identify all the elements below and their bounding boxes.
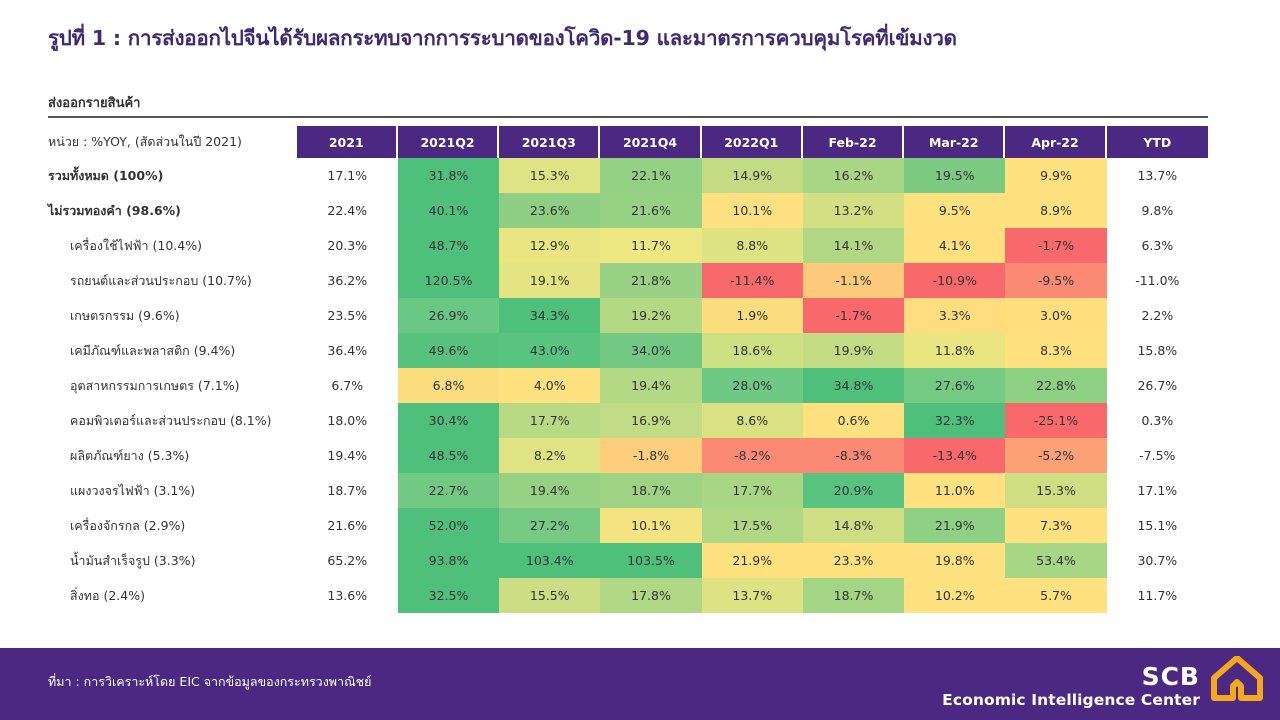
data-cell: 17.8% xyxy=(600,578,701,613)
data-cell: 103.4% xyxy=(499,543,600,578)
data-cell: 14.1% xyxy=(803,228,904,263)
data-cell: 26.9% xyxy=(398,298,499,333)
data-cell: 22.1% xyxy=(600,158,701,193)
data-cell: -1.7% xyxy=(803,298,904,333)
page-title: รูปที่ 1 : การส่งออกไปจีนได้รับผลกระทบจา… xyxy=(48,22,1238,55)
data-cell: 19.4% xyxy=(600,368,701,403)
column-header-2021q2: 2021Q2 xyxy=(398,126,499,158)
data-cell: 22.7% xyxy=(398,473,499,508)
data-cell: 22.8% xyxy=(1005,368,1106,403)
data-cell: 20.9% xyxy=(803,473,904,508)
data-cell: 48.7% xyxy=(398,228,499,263)
row-label: ไม่รวมทองคำ (98.6%) xyxy=(48,193,297,228)
data-cell: 13.7% xyxy=(702,578,803,613)
data-cell: 8.8% xyxy=(702,228,803,263)
data-cell: 9.5% xyxy=(904,193,1005,228)
table-row: แผงวงจรไฟฟ้า (3.1%)18.7%22.7%19.4%18.7%1… xyxy=(48,473,1208,508)
row-label: อุตสาหกรรมการเกษตร (7.1%) xyxy=(48,368,297,403)
table-row: เครื่องใช้ไฟฟ้า (10.4%)20.3%48.7%12.9%11… xyxy=(48,228,1208,263)
logo-text-block: SCB Economic Intelligence Center xyxy=(942,664,1200,715)
unit-header-label: หน่วย : %YOY, (สัดส่วนในปี 2021) xyxy=(48,126,297,158)
data-cell: 3.0% xyxy=(1005,298,1106,333)
data-cell: 11.7% xyxy=(600,228,701,263)
data-cell: -1.8% xyxy=(600,438,701,473)
data-cell: 8.3% xyxy=(1005,333,1106,368)
data-cell: 2.2% xyxy=(1107,298,1208,333)
data-cell: 19.5% xyxy=(904,158,1005,193)
data-cell: 21.6% xyxy=(600,193,701,228)
data-cell: 93.8% xyxy=(398,543,499,578)
source-note: ที่มา : การวิเคราะห์โดย EIC จากข้อมูลของ… xyxy=(48,672,371,692)
data-cell: 20.3% xyxy=(297,228,398,263)
column-header-apr-22: Apr-22 xyxy=(1005,126,1106,158)
data-cell: 4.1% xyxy=(904,228,1005,263)
table-row: ผลิตภัณฑ์ยาง (5.3%)19.4%48.5%8.2%-1.8%-8… xyxy=(48,438,1208,473)
data-cell: 27.6% xyxy=(904,368,1005,403)
table-row: อุตสาหกรรมการเกษตร (7.1%)6.7%6.8%4.0%19.… xyxy=(48,368,1208,403)
data-cell: 17.1% xyxy=(1107,473,1208,508)
data-cell: 10.1% xyxy=(600,508,701,543)
data-cell: -11.0% xyxy=(1107,263,1208,298)
data-cell: 8.2% xyxy=(499,438,600,473)
table-row: รถยนต์และส่วนประกอบ (10.7%)36.2%120.5%19… xyxy=(48,263,1208,298)
data-cell: 13.7% xyxy=(1107,158,1208,193)
export-heatmap-table: หน่วย : %YOY, (สัดส่วนในปี 2021) 2021202… xyxy=(48,126,1208,613)
data-cell: 34.0% xyxy=(600,333,701,368)
data-cell: 1.9% xyxy=(702,298,803,333)
data-cell: 32.3% xyxy=(904,403,1005,438)
data-cell: 10.2% xyxy=(904,578,1005,613)
data-cell: 18.6% xyxy=(702,333,803,368)
data-cell: 4.0% xyxy=(499,368,600,403)
data-cell: 8.9% xyxy=(1005,193,1106,228)
data-cell: 40.1% xyxy=(398,193,499,228)
data-cell: 6.8% xyxy=(398,368,499,403)
table-head: หน่วย : %YOY, (สัดส่วนในปี 2021) 2021202… xyxy=(48,126,1208,158)
data-cell: 10.1% xyxy=(702,193,803,228)
data-cell: 17.7% xyxy=(499,403,600,438)
data-cell: -8.2% xyxy=(702,438,803,473)
column-header-feb-22: Feb-22 xyxy=(803,126,904,158)
data-cell: 0.3% xyxy=(1107,403,1208,438)
scb-eic-logo: SCB Economic Intelligence Center xyxy=(942,656,1264,714)
row-label: เครื่องจักรกล (2.9%) xyxy=(48,508,297,543)
data-cell: 3.3% xyxy=(904,298,1005,333)
data-cell: 18.0% xyxy=(297,403,398,438)
data-cell: 6.7% xyxy=(297,368,398,403)
data-cell: 30.7% xyxy=(1107,543,1208,578)
table-row: รวมทั้งหมด (100%)17.1%31.8%15.3%22.1%14.… xyxy=(48,158,1208,193)
data-cell: -7.5% xyxy=(1107,438,1208,473)
row-label: สิ่งทอ (2.4%) xyxy=(48,578,297,613)
data-cell: 15.8% xyxy=(1107,333,1208,368)
data-cell: 6.3% xyxy=(1107,228,1208,263)
data-cell: 15.3% xyxy=(1005,473,1106,508)
data-cell: 17.7% xyxy=(702,473,803,508)
data-cell: 17.1% xyxy=(297,158,398,193)
data-cell: 52.0% xyxy=(398,508,499,543)
data-cell: 34.8% xyxy=(803,368,904,403)
data-cell: 13.2% xyxy=(803,193,904,228)
data-cell: -10.9% xyxy=(904,263,1005,298)
data-cell: 48.5% xyxy=(398,438,499,473)
data-cell: 19.4% xyxy=(499,473,600,508)
data-cell: 19.9% xyxy=(803,333,904,368)
row-label: ผลิตภัณฑ์ยาง (5.3%) xyxy=(48,438,297,473)
row-label: เคมีภัณฑ์และพลาสติก (9.4%) xyxy=(48,333,297,368)
data-cell: 0.6% xyxy=(803,403,904,438)
data-cell: 23.6% xyxy=(499,193,600,228)
data-cell: -13.4% xyxy=(904,438,1005,473)
data-cell: 19.4% xyxy=(297,438,398,473)
data-cell: 23.3% xyxy=(803,543,904,578)
data-cell: 11.7% xyxy=(1107,578,1208,613)
data-cell: 14.8% xyxy=(803,508,904,543)
data-cell: -11.4% xyxy=(702,263,803,298)
column-header-2022q1: 2022Q1 xyxy=(702,126,803,158)
data-cell: 49.6% xyxy=(398,333,499,368)
data-cell: 9.9% xyxy=(1005,158,1106,193)
data-cell: 21.8% xyxy=(600,263,701,298)
table-row: เคมีภัณฑ์และพลาสติก (9.4%)36.4%49.6%43.0… xyxy=(48,333,1208,368)
data-cell: 7.3% xyxy=(1005,508,1106,543)
table-body: รวมทั้งหมด (100%)17.1%31.8%15.3%22.1%14.… xyxy=(48,158,1208,613)
data-cell: -9.5% xyxy=(1005,263,1106,298)
row-label: แผงวงจรไฟฟ้า (3.1%) xyxy=(48,473,297,508)
data-cell: -1.7% xyxy=(1005,228,1106,263)
data-cell: 9.8% xyxy=(1107,193,1208,228)
row-label: เครื่องใช้ไฟฟ้า (10.4%) xyxy=(48,228,297,263)
row-label: คอมพิวเตอร์และส่วนประกอบ (8.1%) xyxy=(48,403,297,438)
data-cell: 18.7% xyxy=(297,473,398,508)
data-cell: 8.6% xyxy=(702,403,803,438)
scb-spade-logo-icon xyxy=(1210,656,1264,714)
data-cell: 11.8% xyxy=(904,333,1005,368)
column-header-2021: 2021 xyxy=(297,126,398,158)
data-cell: 16.2% xyxy=(803,158,904,193)
data-cell: 18.7% xyxy=(803,578,904,613)
data-cell: 5.7% xyxy=(1005,578,1106,613)
row-label: น้ำมันสำเร็จรูป (3.3%) xyxy=(48,543,297,578)
data-cell: 14.9% xyxy=(702,158,803,193)
data-cell: 28.0% xyxy=(702,368,803,403)
data-cell: 16.9% xyxy=(600,403,701,438)
data-cell: -1.1% xyxy=(803,263,904,298)
data-cell: 19.1% xyxy=(499,263,600,298)
section-heading: ส่งออกรายสินค้า xyxy=(48,92,141,113)
data-cell: 36.4% xyxy=(297,333,398,368)
data-cell: 31.8% xyxy=(398,158,499,193)
data-cell: 15.5% xyxy=(499,578,600,613)
footer-bar: ที่มา : การวิเคราะห์โดย EIC จากข้อมูลของ… xyxy=(0,648,1280,720)
data-cell: 22.4% xyxy=(297,193,398,228)
data-cell: 11.0% xyxy=(904,473,1005,508)
data-cell: 13.6% xyxy=(297,578,398,613)
data-cell: 18.7% xyxy=(600,473,701,508)
data-cell: 32.5% xyxy=(398,578,499,613)
data-cell: 65.2% xyxy=(297,543,398,578)
logo-eic-text: Economic Intelligence Center xyxy=(942,693,1200,709)
table-row: คอมพิวเตอร์และส่วนประกอบ (8.1%)18.0%30.4… xyxy=(48,403,1208,438)
data-cell: 53.4% xyxy=(1005,543,1106,578)
table-row: ไม่รวมทองคำ (98.6%)22.4%40.1%23.6%21.6%1… xyxy=(48,193,1208,228)
data-cell: 15.1% xyxy=(1107,508,1208,543)
data-cell: 30.4% xyxy=(398,403,499,438)
data-cell: 21.9% xyxy=(702,543,803,578)
data-cell: 26.7% xyxy=(1107,368,1208,403)
table-row: เครื่องจักรกล (2.9%)21.6%52.0%27.2%10.1%… xyxy=(48,508,1208,543)
data-cell: 17.5% xyxy=(702,508,803,543)
data-cell: 21.6% xyxy=(297,508,398,543)
column-header-mar-22: Mar-22 xyxy=(904,126,1005,158)
data-cell: 19.8% xyxy=(904,543,1005,578)
column-header-ytd: YTD xyxy=(1107,126,1208,158)
data-cell: 23.5% xyxy=(297,298,398,333)
data-cell: 21.9% xyxy=(904,508,1005,543)
data-cell: -8.3% xyxy=(803,438,904,473)
row-label: รวมทั้งหมด (100%) xyxy=(48,158,297,193)
data-cell: 19.2% xyxy=(600,298,701,333)
data-cell: 43.0% xyxy=(499,333,600,368)
data-cell: 12.9% xyxy=(499,228,600,263)
section-divider xyxy=(48,116,1208,118)
data-cell: 36.2% xyxy=(297,263,398,298)
logo-scb-text: SCB xyxy=(1142,664,1200,689)
data-cell: -25.1% xyxy=(1005,403,1106,438)
data-cell: 27.2% xyxy=(499,508,600,543)
table-row: เกษตรกรรม (9.6%)23.5%26.9%34.3%19.2%1.9%… xyxy=(48,298,1208,333)
table-row: สิ่งทอ (2.4%)13.6%32.5%15.5%17.8%13.7%18… xyxy=(48,578,1208,613)
column-header-2021q4: 2021Q4 xyxy=(600,126,701,158)
data-cell: 120.5% xyxy=(398,263,499,298)
table-row: น้ำมันสำเร็จรูป (3.3%)65.2%93.8%103.4%10… xyxy=(48,543,1208,578)
table-header-row: หน่วย : %YOY, (สัดส่วนในปี 2021) 2021202… xyxy=(48,126,1208,158)
data-cell: 103.5% xyxy=(600,543,701,578)
data-cell: 15.3% xyxy=(499,158,600,193)
data-cell: 34.3% xyxy=(499,298,600,333)
data-cell: -5.2% xyxy=(1005,438,1106,473)
row-label: รถยนต์และส่วนประกอบ (10.7%) xyxy=(48,263,297,298)
column-header-2021q3: 2021Q3 xyxy=(499,126,600,158)
row-label: เกษตรกรรม (9.6%) xyxy=(48,298,297,333)
